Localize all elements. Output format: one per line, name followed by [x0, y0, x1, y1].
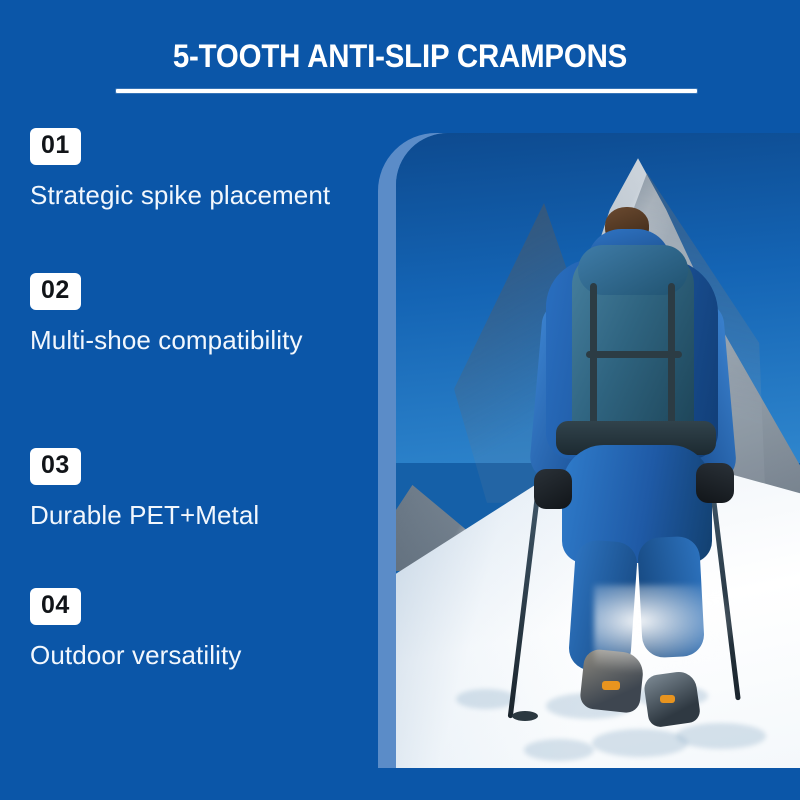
- climber-glove-left: [534, 469, 572, 509]
- boot-accent-right: [660, 695, 675, 703]
- title-underline-rule: [116, 89, 697, 93]
- feature-number-badge: 04: [30, 588, 81, 625]
- page-title: 5-TOOTH ANTI-SLIP CRAMPONS: [32, 38, 768, 75]
- climber-glove-right: [696, 463, 734, 503]
- feature-label: Outdoor versatility: [30, 638, 360, 672]
- backpack-strap: [590, 283, 597, 433]
- trekking-pole-left: [508, 484, 542, 719]
- photo-scene: [396, 133, 800, 768]
- feature-item-03: 03 Durable PET+Metal: [30, 448, 370, 532]
- feature-item-02: 02 Multi-shoe compatibility: [30, 273, 370, 357]
- feature-item-04: 04 Outdoor versatility: [30, 588, 370, 672]
- backpack-strap: [586, 351, 682, 358]
- feature-label: Multi-shoe compatibility: [30, 323, 360, 357]
- pole-basket-left: [512, 711, 538, 721]
- feature-list: 01 Strategic spike placement 02 Multi-sh…: [0, 118, 380, 718]
- feature-item-01: 01 Strategic spike placement: [30, 128, 370, 212]
- feature-label: Strategic spike placement: [30, 178, 360, 212]
- boot-accent-left: [602, 681, 620, 690]
- feature-number-badge: 02: [30, 273, 81, 310]
- feature-number-badge: 03: [30, 448, 81, 485]
- feature-label: Durable PET+Metal: [30, 498, 360, 532]
- header: 5-TOOTH ANTI-SLIP CRAMPONS: [0, 0, 800, 110]
- product-feature-card: 5-TOOTH ANTI-SLIP CRAMPONS 01 Strategic …: [0, 0, 800, 800]
- product-lifestyle-photo: [396, 133, 800, 768]
- snow-spray: [594, 585, 744, 675]
- backpack-strap: [668, 283, 675, 433]
- feature-number-badge: 01: [30, 128, 81, 165]
